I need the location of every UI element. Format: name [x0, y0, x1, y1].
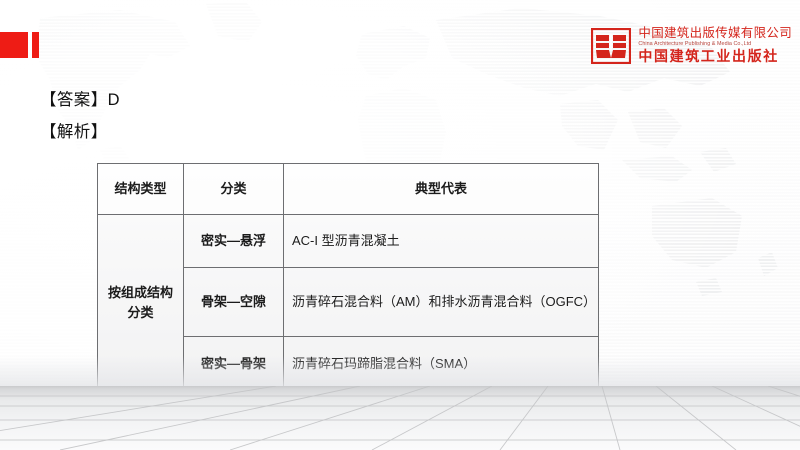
table-header-structure-type: 结构类型	[98, 164, 184, 215]
table-header-row: 结构类型 分类 典型代表	[98, 164, 599, 215]
logo-company-cn: 中国建筑出版传媒有限公司	[638, 27, 792, 40]
accent-bar	[32, 32, 39, 58]
table-header-representative: 典型代表	[284, 164, 599, 215]
table-cell-category: 密实—悬浮	[184, 215, 284, 268]
table-cell-category: 骨架—空隙	[184, 268, 284, 337]
logo-company-en: China Architecture Publishing & Media Co…	[638, 42, 792, 47]
structure-table-wrapper: 结构类型 分类 典型代表 按组成结构分类 密实—悬浮 AC-I 型沥青混凝土 骨…	[97, 163, 598, 392]
table-cell-representative: 沥青碎石玛蹄脂混合料（SMA）	[284, 337, 599, 392]
perspective-floor	[0, 386, 800, 450]
table-cell-representative: AC-I 型沥青混凝土	[284, 215, 599, 268]
open-book-logo-icon	[591, 28, 631, 64]
structure-table: 结构类型 分类 典型代表 按组成结构分类 密实—悬浮 AC-I 型沥青混凝土 骨…	[97, 163, 599, 392]
table-cell-group-label: 按组成结构分类	[98, 215, 184, 392]
accent-block	[0, 32, 28, 58]
analysis-line: 【解析】	[40, 118, 108, 142]
logo-press-cn: 中国建筑工业出版社	[638, 50, 792, 64]
presentation-slide: 中国建筑出版传媒有限公司 China Architecture Publishi…	[0, 0, 800, 450]
table-cell-category: 密实—骨架	[184, 337, 284, 392]
table-row: 按组成结构分类 密实—悬浮 AC-I 型沥青混凝土	[98, 215, 599, 268]
answer-line: 【答案】D	[40, 86, 120, 110]
table-header-category: 分类	[184, 164, 284, 215]
publisher-logo: 中国建筑出版传媒有限公司 China Architecture Publishi…	[591, 27, 792, 64]
table-cell-representative: 沥青碎石混合料（AM）和排水沥青混合料（OGFC）	[284, 268, 599, 337]
